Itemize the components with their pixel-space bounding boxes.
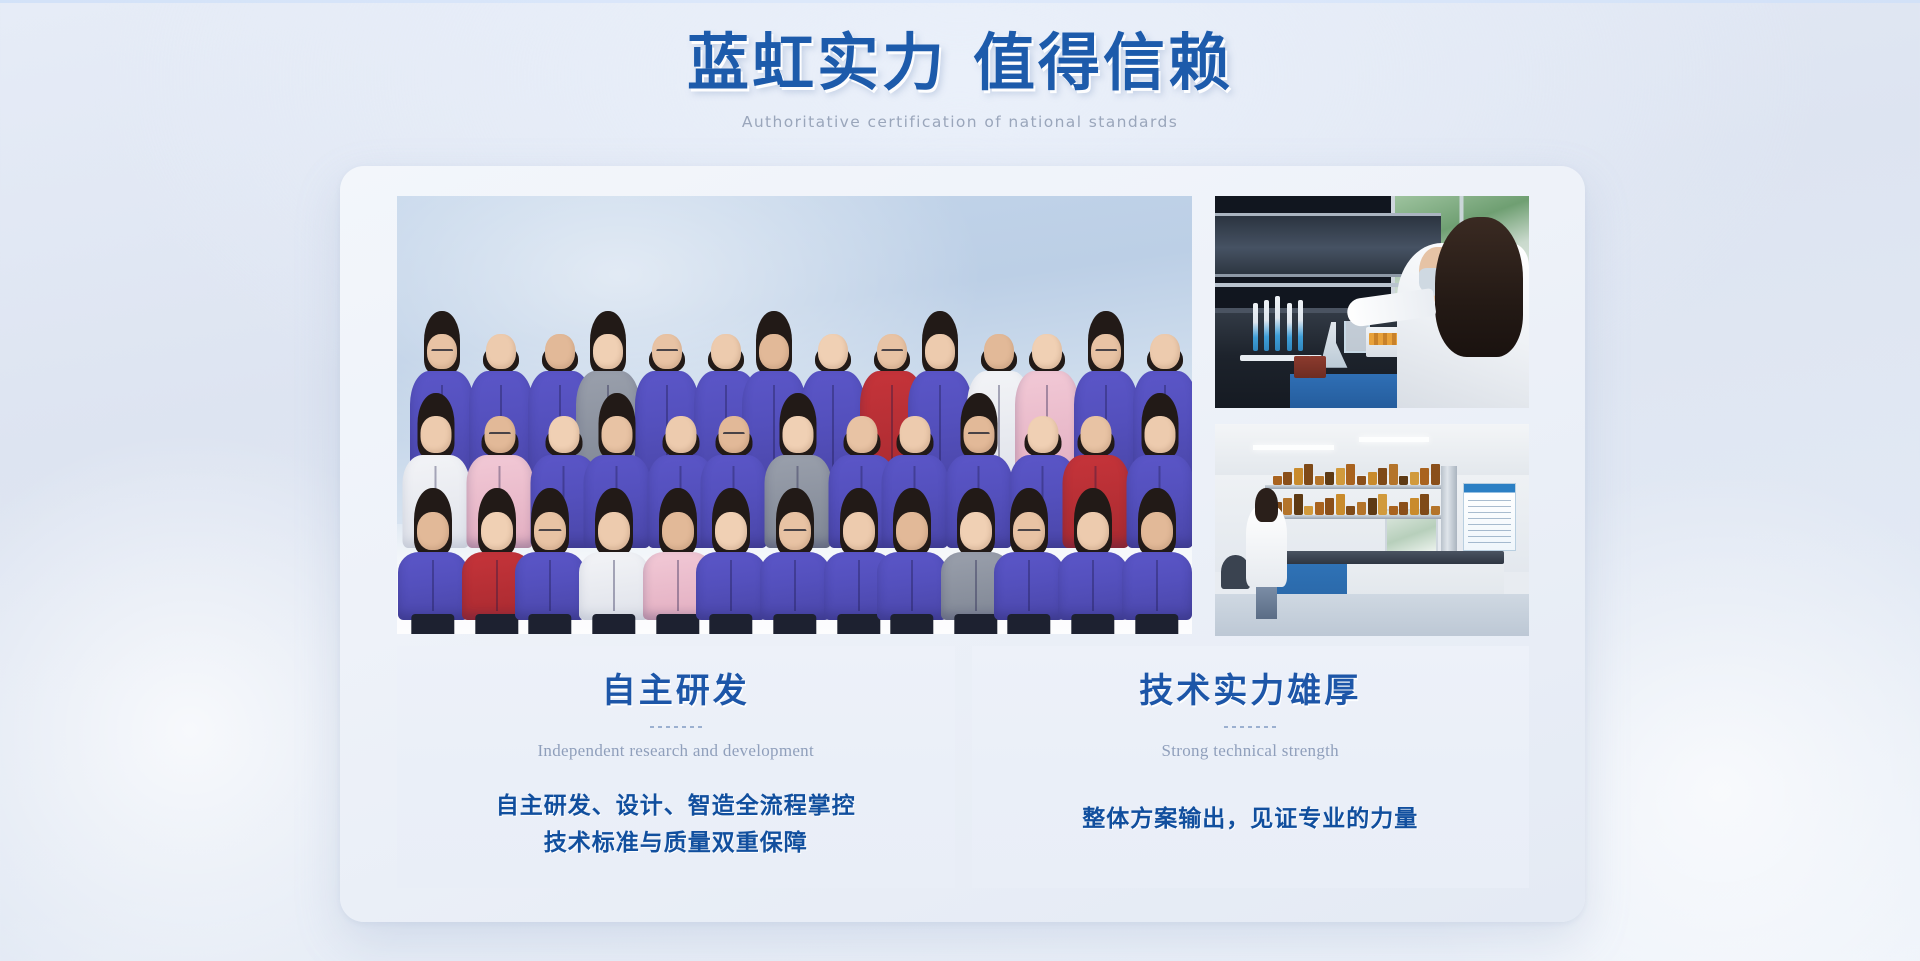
top-accent-line bbox=[0, 0, 1920, 3]
team-member-head bbox=[818, 334, 848, 369]
team-member-legs bbox=[1071, 614, 1114, 634]
team-member-jacket bbox=[760, 552, 830, 620]
technician-hair bbox=[1435, 217, 1523, 357]
team-member-glasses bbox=[881, 349, 903, 353]
team-member-glasses bbox=[538, 529, 561, 533]
lab-scene-pipetting bbox=[1215, 196, 1529, 408]
team-member-jacket bbox=[515, 552, 585, 620]
team-member-glasses bbox=[488, 432, 510, 436]
feature-card-title: 技术实力雄厚 bbox=[972, 672, 1530, 713]
reagent-bottle bbox=[1378, 494, 1387, 515]
team-member-head bbox=[1150, 334, 1180, 369]
team-member bbox=[579, 512, 649, 620]
team-member-head bbox=[1077, 512, 1109, 550]
team-member-jacket bbox=[696, 552, 766, 620]
page-title-part2: 值得信赖 bbox=[973, 30, 1233, 98]
team-member-glasses bbox=[1017, 529, 1040, 533]
feature-card-description-line2: 技术标准与质量双重保障 bbox=[397, 824, 955, 861]
team-member-head bbox=[1080, 416, 1111, 453]
safety-notice-poster bbox=[1463, 483, 1516, 551]
reagent-bottle bbox=[1399, 476, 1408, 485]
pipette bbox=[1298, 300, 1303, 351]
team-member-glasses bbox=[783, 529, 806, 533]
reagent-bottle bbox=[1410, 472, 1419, 485]
team-member-legs bbox=[656, 614, 699, 634]
reagent-bottle bbox=[1378, 468, 1387, 485]
ceiling-light bbox=[1253, 445, 1335, 450]
reagent-bottle bbox=[1431, 464, 1440, 485]
reagent-bottle bbox=[1389, 464, 1398, 485]
team-member-legs bbox=[1007, 614, 1050, 634]
team-member-head bbox=[665, 416, 696, 453]
reagent-bottle bbox=[1336, 494, 1345, 515]
team-member-head bbox=[420, 416, 451, 453]
team-member-jacket bbox=[398, 552, 468, 620]
reagent-bottle bbox=[1304, 506, 1313, 515]
shelf-board bbox=[1265, 515, 1447, 519]
team-member-head bbox=[662, 512, 694, 550]
team-member bbox=[398, 512, 468, 620]
team-member-head bbox=[1032, 334, 1062, 369]
pipette bbox=[1253, 303, 1258, 350]
reagent-bottle bbox=[1346, 464, 1355, 485]
team-member-legs bbox=[475, 614, 518, 634]
team-member-head bbox=[782, 416, 813, 453]
team-member-head bbox=[1141, 512, 1173, 550]
team-member-legs bbox=[1135, 614, 1178, 634]
reagent-bottle bbox=[1420, 494, 1429, 515]
team-member-jacket bbox=[1122, 552, 1192, 620]
reagent-bottle bbox=[1325, 498, 1334, 515]
team-member-head bbox=[960, 512, 992, 550]
media-grid bbox=[397, 196, 1529, 634]
team-member-legs bbox=[411, 614, 454, 634]
reagent-bottle bbox=[1325, 472, 1334, 485]
lab-room-photo bbox=[1215, 424, 1529, 636]
team-member-legs bbox=[890, 614, 933, 634]
feature-card-subtitle: Strong technical strength bbox=[972, 741, 1530, 761]
team-member-legs bbox=[837, 614, 880, 634]
team-member-legs bbox=[528, 614, 571, 634]
team-member-head bbox=[545, 334, 575, 369]
reagent-bottle bbox=[1304, 464, 1313, 485]
reagent-bottle bbox=[1309, 356, 1326, 378]
reagent-bottle bbox=[1368, 498, 1377, 515]
team-member-glasses bbox=[656, 349, 678, 353]
worker-hair bbox=[1255, 488, 1278, 522]
team-member-glasses bbox=[722, 432, 744, 436]
reagent-bottle bbox=[1357, 476, 1366, 485]
team-member-jacket bbox=[1058, 552, 1128, 620]
lab-scene-room bbox=[1215, 424, 1529, 636]
reagent-bottle bbox=[1315, 476, 1324, 485]
reagent-bottle bbox=[1389, 506, 1398, 515]
reagent-bottle bbox=[1357, 502, 1366, 515]
reagent-bottle bbox=[1336, 468, 1345, 485]
team-member-legs bbox=[592, 614, 635, 634]
reagent-bottle bbox=[1273, 476, 1282, 485]
team-member bbox=[515, 512, 585, 620]
reagent-bottle bbox=[1294, 356, 1311, 378]
feature-card-title: 自主研发 bbox=[397, 672, 955, 713]
feature-card-description: 整体方案输出，见证专业的力量 bbox=[972, 800, 1530, 837]
team-member-head bbox=[593, 334, 623, 369]
pipette bbox=[1287, 303, 1292, 350]
team-member-head bbox=[548, 416, 579, 453]
lab-worker bbox=[1246, 488, 1287, 619]
team-member bbox=[1058, 512, 1128, 620]
team-member-head bbox=[715, 512, 747, 550]
team-member bbox=[696, 512, 766, 620]
content-panel: 自主研发 Independent research and developmen… bbox=[340, 166, 1585, 922]
ceiling-light bbox=[1359, 437, 1428, 442]
team-member-head bbox=[598, 512, 630, 550]
feature-card-list: 自主研发 Independent research and developmen… bbox=[397, 646, 1529, 888]
island-bench-top bbox=[1259, 551, 1504, 564]
feature-card-description: 自主研发、设计、智造全流程掌控 技术标准与质量双重保障 bbox=[397, 787, 955, 862]
team-member bbox=[760, 512, 830, 620]
worker-legs bbox=[1256, 585, 1276, 619]
reagent-bottle bbox=[1294, 468, 1303, 485]
team-member-head bbox=[711, 334, 741, 369]
team-group-photo bbox=[397, 196, 1192, 634]
team-member-glasses bbox=[967, 432, 989, 436]
lab-technician-photo bbox=[1215, 196, 1529, 408]
team-member-head bbox=[481, 512, 513, 550]
team-member-head bbox=[984, 334, 1014, 369]
team-member-head bbox=[486, 334, 516, 369]
reagent-bottle bbox=[1420, 468, 1429, 485]
lab-stool bbox=[1221, 555, 1249, 589]
feature-card-description-line1: 整体方案输出，见证专业的力量 bbox=[972, 800, 1530, 837]
page-subtitle: Authoritative certification of national … bbox=[0, 113, 1920, 131]
team-member bbox=[877, 512, 947, 620]
pipette bbox=[1264, 300, 1269, 351]
team-member-head bbox=[846, 416, 877, 453]
reagent-shelf-unit bbox=[1265, 471, 1447, 543]
team-member-legs bbox=[773, 614, 816, 634]
team-member-head bbox=[899, 416, 930, 453]
pipette bbox=[1275, 296, 1280, 351]
feature-card-technical-strength[interactable]: 技术实力雄厚 Strong technical strength 整体方案输出，… bbox=[972, 646, 1530, 888]
team-member-head bbox=[843, 512, 875, 550]
reagent-bottle bbox=[1399, 502, 1408, 515]
team-member-head bbox=[925, 334, 955, 369]
team-member-jacket bbox=[877, 552, 947, 620]
team-member-head bbox=[1144, 416, 1175, 453]
feature-card-subtitle: Independent research and development bbox=[397, 741, 955, 761]
team-member-legs bbox=[954, 614, 997, 634]
dotted-divider-icon bbox=[650, 726, 702, 728]
team-member-head bbox=[1027, 416, 1058, 453]
shelf-board bbox=[1265, 485, 1447, 489]
photo-people-group bbox=[397, 196, 1192, 634]
reagent-bottle bbox=[1294, 494, 1303, 515]
reagent-bottle bbox=[1410, 498, 1419, 515]
team-member bbox=[1122, 512, 1192, 620]
team-member-head bbox=[417, 512, 449, 550]
team-member-jacket bbox=[994, 552, 1064, 620]
page-title-part1: 蓝虹实力 bbox=[687, 30, 947, 98]
team-member-jacket bbox=[579, 552, 649, 620]
feature-card-independent-rd[interactable]: 自主研发 Independent research and developmen… bbox=[397, 646, 955, 888]
reagent-bottle bbox=[1283, 472, 1292, 485]
reagent-bottle bbox=[1368, 472, 1377, 485]
page-title: 蓝虹实力值得信赖 bbox=[0, 30, 1920, 99]
team-member bbox=[994, 512, 1064, 620]
team-member-head bbox=[601, 416, 632, 453]
team-member-head bbox=[759, 334, 789, 369]
reagent-bottle bbox=[1431, 506, 1440, 515]
reagent-bottle bbox=[1346, 506, 1355, 515]
pipette-rack bbox=[1253, 296, 1310, 351]
team-member-head bbox=[896, 512, 928, 550]
team-member-glasses bbox=[1095, 349, 1117, 353]
dotted-divider-icon bbox=[1224, 726, 1276, 728]
reagent-bottle bbox=[1315, 502, 1324, 515]
page-header: 蓝虹实力值得信赖 Authoritative certification of … bbox=[0, 30, 1920, 131]
team-member-glasses bbox=[431, 349, 453, 353]
feature-card-description-line1: 自主研发、设计、智造全流程掌控 bbox=[397, 787, 955, 824]
team-member-legs bbox=[709, 614, 752, 634]
